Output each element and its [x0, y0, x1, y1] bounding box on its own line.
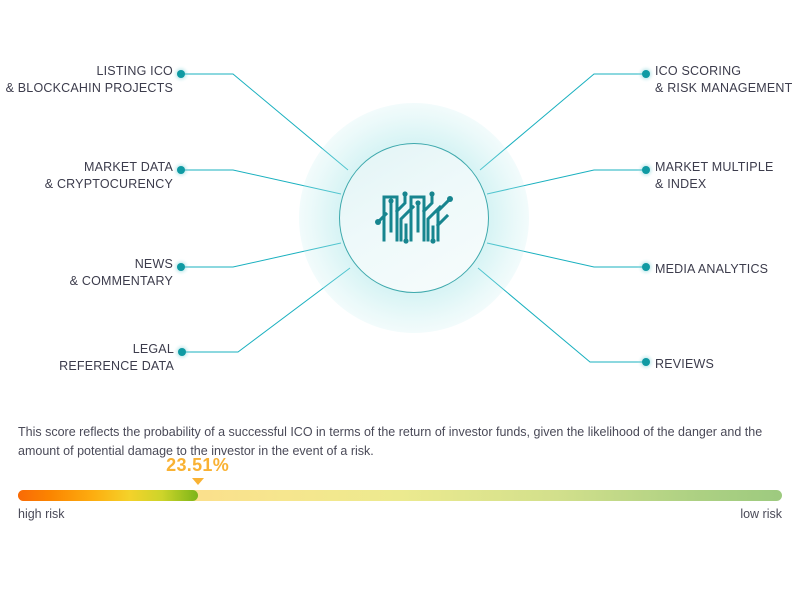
node-dots	[0, 0, 800, 400]
risk-pointer-icon	[192, 478, 204, 485]
risk-fill	[18, 490, 198, 501]
risk-value-wrap: 23.51%	[18, 455, 782, 485]
capabilities-diagram: LISTING ICO & BLOCKCAHIN PROJECTS MARKET…	[0, 0, 800, 400]
high-risk-label: high risk	[18, 507, 65, 521]
risk-value-label: 23.51%	[166, 455, 229, 476]
node-label-listing-ico[interactable]: LISTING ICO & BLOCKCAHIN PROJECTS	[0, 63, 173, 97]
risk-meter: 23.51% high risk low risk	[18, 455, 782, 525]
node-label-legal[interactable]: LEGAL REFERENCE DATA	[0, 341, 174, 375]
node-label-media-analytics[interactable]: MEDIA ANALYTICS	[655, 261, 800, 278]
node-label-market-multiple[interactable]: MARKET MULTIPLE & INDEX	[655, 159, 800, 193]
node-label-market-data[interactable]: MARKET DATA & CRYPTOCURENCY	[0, 159, 173, 193]
node-label-reviews[interactable]: REVIEWS	[655, 356, 800, 373]
node-label-news[interactable]: NEWS & COMMENTARY	[0, 256, 173, 290]
low-risk-label: low risk	[740, 507, 782, 521]
node-label-ico-scoring[interactable]: ICO SCORING & RISK MANAGEMENT	[655, 63, 800, 97]
